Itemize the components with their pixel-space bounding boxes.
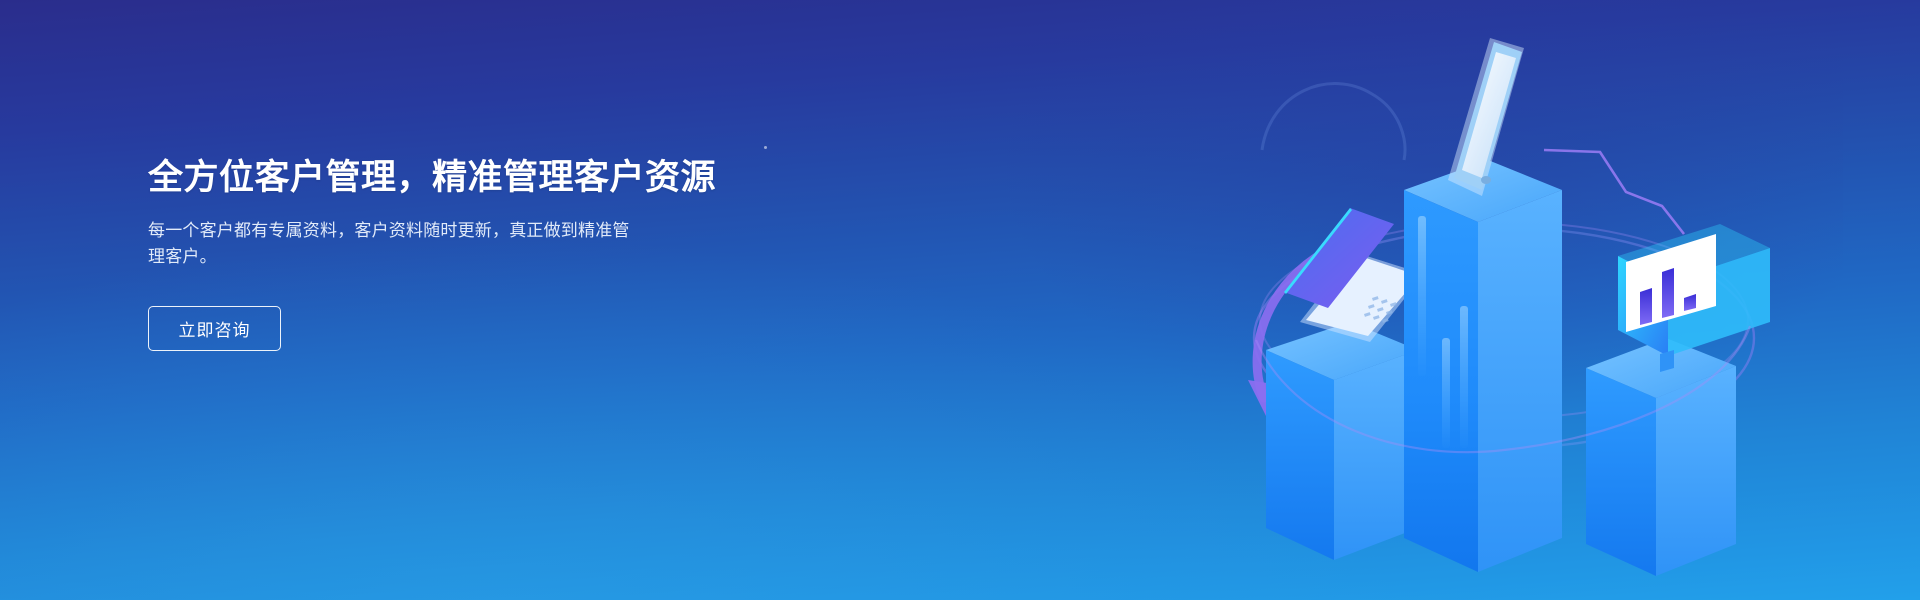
page-title: 全方位客户管理，精准管理客户资源 xyxy=(148,155,788,201)
hero-subtitle: 每一个客户都有专属资料，客户资料随时更新，真正做到精准管理客户。 xyxy=(148,218,638,270)
sparkle-dot xyxy=(764,146,767,149)
hero-copy-block: 全方位客户管理，精准管理客户资源 每一个客户都有专属资料，客户资料随时更新，真正… xyxy=(148,155,788,351)
consult-now-button[interactable]: 立即咨询 xyxy=(148,306,281,351)
cloud-arc-icon xyxy=(1262,84,1405,160)
pillar-center xyxy=(1404,38,1562,572)
polyline-top-right-icon xyxy=(1544,150,1684,234)
hero-illustration xyxy=(1222,20,1782,580)
laptop-icon xyxy=(1284,208,1424,342)
hero-banner: 全方位客户管理，精准管理客户资源 每一个客户都有专属资料，客户资料随时更新，真正… xyxy=(0,0,1920,600)
pillar-left xyxy=(1266,208,1424,560)
